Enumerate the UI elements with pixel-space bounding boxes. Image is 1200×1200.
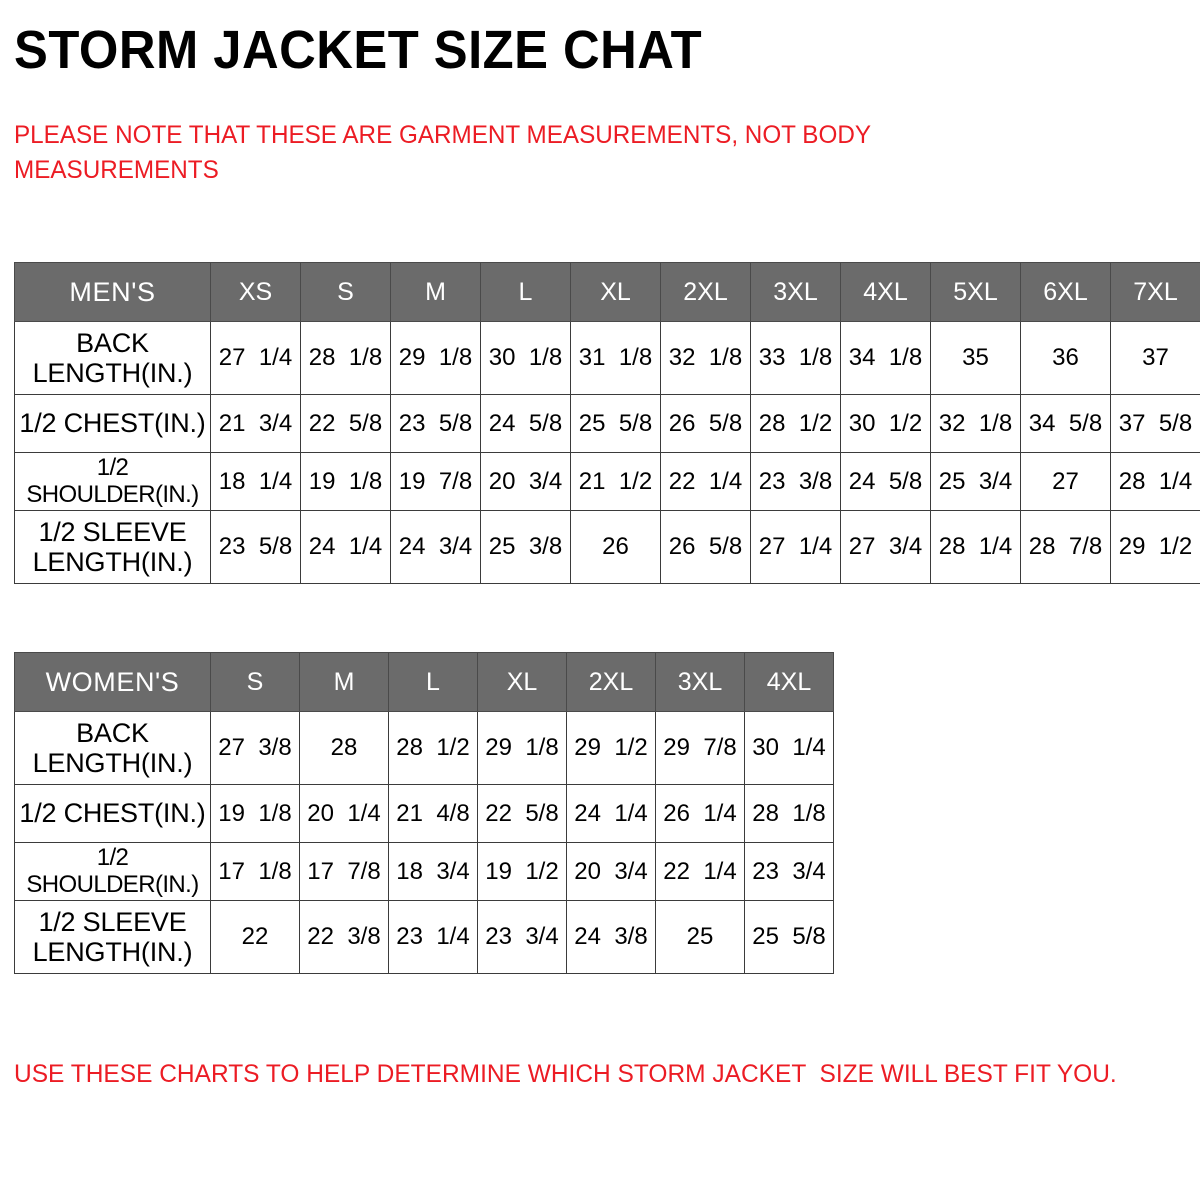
measurement-cell: 21 3/4 bbox=[211, 395, 301, 453]
measurement-value: 29 1/2 bbox=[1119, 533, 1192, 561]
mens-column-header-l: L bbox=[481, 263, 571, 322]
measurement-value: 24 1/4 bbox=[309, 533, 382, 561]
measurement-cell: 24 5/8 bbox=[841, 453, 931, 511]
mens-row-label: 1/2 CHEST(IN.) bbox=[15, 395, 211, 453]
page-title: STORM JACKET SIZE CHAT bbox=[14, 22, 702, 79]
measurement-cell: 21 4/8 bbox=[389, 785, 478, 843]
measurement-cell: 30 1/4 bbox=[745, 712, 834, 785]
measurement-value: 31 1/8 bbox=[579, 344, 652, 372]
measurement-value: 21 1/2 bbox=[579, 468, 652, 496]
measurement-value: 27 bbox=[1052, 468, 1079, 496]
measurement-cell: 21 1/2 bbox=[571, 453, 661, 511]
measurement-value: 26 5/8 bbox=[669, 410, 742, 438]
table-row: 1/2 CHEST(IN.)19 1/820 1/421 4/822 5/824… bbox=[15, 785, 834, 843]
measurement-cell: 33 1/8 bbox=[751, 322, 841, 395]
measurement-cell: 27 3/8 bbox=[211, 712, 300, 785]
measurement-value: 29 1/2 bbox=[574, 734, 647, 762]
measurement-cell: 19 1/2 bbox=[478, 843, 567, 901]
measurement-cell: 28 1/4 bbox=[931, 511, 1021, 584]
measurement-value: 23 3/4 bbox=[485, 923, 558, 951]
table-row: 1/2 SHOULDER(IN.)17 1/817 7/818 3/419 1/… bbox=[15, 843, 834, 901]
womens-row-label: 1/2 SHOULDER(IN.) bbox=[15, 843, 211, 901]
measurement-cell: 19 1/8 bbox=[301, 453, 391, 511]
measurement-value: 27 1/4 bbox=[759, 533, 832, 561]
measurement-value: 24 5/8 bbox=[489, 410, 562, 438]
mens-row-label: 1/2 SHOULDER(IN.) bbox=[15, 453, 211, 511]
measurement-cell: 29 1/2 bbox=[1111, 511, 1200, 584]
row-label-line-2: LENGTH(IN.) bbox=[17, 358, 208, 388]
womens-table-header: WOMEN'SSMLXL2XL3XL4XL bbox=[15, 653, 834, 712]
measurement-value: 24 3/4 bbox=[399, 533, 472, 561]
measurement-cell: 25 5/8 bbox=[745, 901, 834, 974]
mens-column-header-6xl: 6XL bbox=[1021, 263, 1111, 322]
measurement-cell: 29 1/2 bbox=[567, 712, 656, 785]
measurement-cell: 28 1/4 bbox=[1111, 453, 1200, 511]
measurement-value: 30 1/2 bbox=[849, 410, 922, 438]
measurement-cell: 18 3/4 bbox=[389, 843, 478, 901]
measurement-value: 36 bbox=[1052, 344, 1079, 372]
measurement-value: 23 5/8 bbox=[399, 410, 472, 438]
measurement-value: 26 1/4 bbox=[663, 800, 736, 828]
row-label-line-1: 1/2 SLEEVE bbox=[17, 907, 208, 937]
measurement-cell: 34 5/8 bbox=[1021, 395, 1111, 453]
measurement-value: 22 bbox=[242, 923, 269, 951]
usage-instruction-note: USE THESE CHARTS TO HELP DETERMINE WHICH… bbox=[14, 1058, 1112, 1091]
measurement-value: 25 5/8 bbox=[579, 410, 652, 438]
mens-column-header-xs: XS bbox=[211, 263, 301, 322]
mens-row-label: 1/2 SLEEVELENGTH(IN.) bbox=[15, 511, 211, 584]
mens-column-header-3xl: 3XL bbox=[751, 263, 841, 322]
mens-column-header-m: M bbox=[391, 263, 481, 322]
measurement-cell: 23 3/4 bbox=[478, 901, 567, 974]
mens-column-header-s: S bbox=[301, 263, 391, 322]
measurement-value: 18 1/4 bbox=[219, 468, 292, 496]
measurement-value: 26 5/8 bbox=[669, 533, 742, 561]
mens-table-body: BACKLENGTH(IN.)27 1/428 1/829 1/830 1/83… bbox=[15, 322, 1200, 584]
measurement-value: 23 3/8 bbox=[759, 468, 832, 496]
measurement-cell: 28 1/2 bbox=[389, 712, 478, 785]
measurement-cell: 22 5/8 bbox=[301, 395, 391, 453]
size-chart-page: STORM JACKET SIZE CHAT PLEASE NOTE THAT … bbox=[0, 0, 1200, 1200]
measurement-cell: 27 1/4 bbox=[751, 511, 841, 584]
womens-row-label: BACKLENGTH(IN.) bbox=[15, 712, 211, 785]
row-label-line-2: LENGTH(IN.) bbox=[17, 937, 208, 967]
measurement-value: 29 7/8 bbox=[663, 734, 736, 762]
measurement-cell: 28 7/8 bbox=[1021, 511, 1111, 584]
measurement-value: 27 1/4 bbox=[219, 344, 292, 372]
table-row: BACKLENGTH(IN.)27 3/82828 1/229 1/829 1/… bbox=[15, 712, 834, 785]
measurement-value: 37 5/8 bbox=[1119, 410, 1192, 438]
measurement-cell: 25 bbox=[656, 901, 745, 974]
table-row: 1/2 CHEST(IN.)21 3/422 5/823 5/824 5/825… bbox=[15, 395, 1200, 453]
measurement-cell: 30 1/2 bbox=[841, 395, 931, 453]
measurement-cell: 24 5/8 bbox=[481, 395, 571, 453]
measurement-value: 24 1/4 bbox=[574, 800, 647, 828]
measurement-value: 28 1/8 bbox=[752, 800, 825, 828]
measurement-value: 32 1/8 bbox=[669, 344, 742, 372]
measurement-value: 19 7/8 bbox=[399, 468, 472, 496]
measurement-value: 17 7/8 bbox=[307, 858, 380, 886]
measurement-cell: 27 1/4 bbox=[211, 322, 301, 395]
womens-size-table: WOMEN'SSMLXL2XL3XL4XL BACKLENGTH(IN.)27 … bbox=[14, 652, 834, 974]
measurement-value: 22 5/8 bbox=[485, 800, 558, 828]
measurement-cell: 26 bbox=[571, 511, 661, 584]
table-header-row: MEN'SXSSMLXL2XL3XL4XL5XL6XL7XL bbox=[15, 263, 1200, 322]
measurement-value: 20 3/4 bbox=[489, 468, 562, 496]
womens-row-label: 1/2 SLEEVELENGTH(IN.) bbox=[15, 901, 211, 974]
mens-size-table: MEN'SXSSMLXL2XL3XL4XL5XL6XL7XL BACKLENGT… bbox=[14, 262, 1200, 584]
measurement-cell: 34 1/8 bbox=[841, 322, 931, 395]
measurement-value: 34 5/8 bbox=[1029, 410, 1102, 438]
measurement-value: 26 bbox=[602, 533, 629, 561]
measurement-cell: 24 3/4 bbox=[391, 511, 481, 584]
measurement-value: 29 1/8 bbox=[399, 344, 472, 372]
measurement-value: 30 1/4 bbox=[752, 734, 825, 762]
measurement-cell: 26 5/8 bbox=[661, 511, 751, 584]
measurement-cell: 23 5/8 bbox=[211, 511, 301, 584]
measurement-cell: 22 5/8 bbox=[478, 785, 567, 843]
measurement-value: 23 3/4 bbox=[752, 858, 825, 886]
row-label-line-2: LENGTH(IN.) bbox=[17, 748, 208, 778]
measurement-value: 27 3/4 bbox=[849, 533, 922, 561]
table-row: 1/2 SHOULDER(IN.)18 1/419 1/819 7/820 3/… bbox=[15, 453, 1200, 511]
mens-row-label: BACKLENGTH(IN.) bbox=[15, 322, 211, 395]
measurement-cell: 32 1/8 bbox=[661, 322, 751, 395]
mens-column-header-2xl: 2XL bbox=[661, 263, 751, 322]
measurement-cell: 35 bbox=[931, 322, 1021, 395]
womens-table-body: BACKLENGTH(IN.)27 3/82828 1/229 1/829 1/… bbox=[15, 712, 834, 974]
measurement-cell: 27 bbox=[1021, 453, 1111, 511]
measurement-cell: 31 1/8 bbox=[571, 322, 661, 395]
measurement-cell: 37 5/8 bbox=[1111, 395, 1200, 453]
measurement-cell: 28 1/8 bbox=[745, 785, 834, 843]
measurement-value: 21 4/8 bbox=[396, 800, 469, 828]
measurement-cell: 17 7/8 bbox=[300, 843, 389, 901]
measurement-value: 25 3/4 bbox=[939, 468, 1012, 496]
measurement-cell: 28 bbox=[300, 712, 389, 785]
measurement-value: 28 7/8 bbox=[1029, 533, 1102, 561]
measurement-value: 22 3/8 bbox=[307, 923, 380, 951]
measurement-cell: 19 7/8 bbox=[391, 453, 481, 511]
measurement-cell: 26 5/8 bbox=[661, 395, 751, 453]
measurement-value: 18 3/4 bbox=[396, 858, 469, 886]
measurement-cell: 25 5/8 bbox=[571, 395, 661, 453]
measurement-cell: 23 1/4 bbox=[389, 901, 478, 974]
row-label-line-1: BACK bbox=[17, 328, 208, 358]
measurement-cell: 30 1/8 bbox=[481, 322, 571, 395]
measurement-value: 25 5/8 bbox=[752, 923, 825, 951]
womens-column-header-4xl: 4XL bbox=[745, 653, 834, 712]
measurement-cell: 22 1/4 bbox=[661, 453, 751, 511]
measurement-value: 30 1/8 bbox=[489, 344, 562, 372]
measurement-value: 23 1/4 bbox=[396, 923, 469, 951]
measurement-cell: 24 3/8 bbox=[567, 901, 656, 974]
measurement-cell: 22 3/8 bbox=[300, 901, 389, 974]
measurement-cell: 24 1/4 bbox=[567, 785, 656, 843]
measurement-value: 17 1/8 bbox=[218, 858, 291, 886]
measurement-cell: 23 3/8 bbox=[751, 453, 841, 511]
womens-column-header-3xl: 3XL bbox=[656, 653, 745, 712]
measurement-cell: 22 bbox=[211, 901, 300, 974]
measurement-cell: 29 1/8 bbox=[391, 322, 481, 395]
womens-column-header-2xl: 2XL bbox=[567, 653, 656, 712]
measurement-value: 28 1/8 bbox=[309, 344, 382, 372]
row-label-line-1: BACK bbox=[17, 718, 208, 748]
measurement-value: 20 3/4 bbox=[574, 858, 647, 886]
measurement-cell: 29 7/8 bbox=[656, 712, 745, 785]
measurement-value: 28 1/2 bbox=[396, 734, 469, 762]
measurement-value: 24 5/8 bbox=[849, 468, 922, 496]
table-row: 1/2 SLEEVELENGTH(IN.)2222 3/823 1/423 3/… bbox=[15, 901, 834, 974]
garment-measurement-note: PLEASE NOTE THAT THESE ARE GARMENT MEASU… bbox=[14, 118, 945, 187]
table-row: 1/2 SLEEVELENGTH(IN.)23 5/824 1/424 3/42… bbox=[15, 511, 1200, 584]
measurement-value: 27 3/8 bbox=[218, 734, 291, 762]
womens-column-header-l: L bbox=[389, 653, 478, 712]
measurement-value: 33 1/8 bbox=[759, 344, 832, 372]
measurement-cell: 28 1/8 bbox=[301, 322, 391, 395]
measurement-cell: 32 1/8 bbox=[931, 395, 1021, 453]
measurement-value: 19 1/8 bbox=[309, 468, 382, 496]
measurement-cell: 19 1/8 bbox=[211, 785, 300, 843]
mens-column-header-4xl: 4XL bbox=[841, 263, 931, 322]
measurement-value: 28 1/4 bbox=[939, 533, 1012, 561]
measurement-cell: 36 bbox=[1021, 322, 1111, 395]
measurement-value: 24 3/8 bbox=[574, 923, 647, 951]
measurement-cell: 25 3/4 bbox=[931, 453, 1021, 511]
measurement-value: 22 5/8 bbox=[309, 410, 382, 438]
womens-column-header-xl: XL bbox=[478, 653, 567, 712]
row-label-line-1: 1/2 SLEEVE bbox=[17, 517, 208, 547]
mens-column-header-xl: XL bbox=[571, 263, 661, 322]
womens-column-header-m: M bbox=[300, 653, 389, 712]
measurement-value: 28 1/2 bbox=[759, 410, 832, 438]
measurement-cell: 20 3/4 bbox=[481, 453, 571, 511]
measurement-value: 22 1/4 bbox=[669, 468, 742, 496]
measurement-cell: 18 1/4 bbox=[211, 453, 301, 511]
measurement-cell: 37 bbox=[1111, 322, 1200, 395]
womens-row-label: 1/2 CHEST(IN.) bbox=[15, 785, 211, 843]
womens-corner-label: WOMEN'S bbox=[15, 653, 211, 712]
measurement-cell: 24 1/4 bbox=[301, 511, 391, 584]
measurement-value: 34 1/8 bbox=[849, 344, 922, 372]
table-row: BACKLENGTH(IN.)27 1/428 1/829 1/830 1/83… bbox=[15, 322, 1200, 395]
measurement-cell: 25 3/8 bbox=[481, 511, 571, 584]
mens-corner-label: MEN'S bbox=[15, 263, 211, 322]
measurement-cell: 23 5/8 bbox=[391, 395, 481, 453]
measurement-value: 19 1/2 bbox=[485, 858, 558, 886]
measurement-value: 35 bbox=[962, 344, 989, 372]
measurement-value: 23 5/8 bbox=[219, 533, 292, 561]
measurement-value: 20 1/4 bbox=[307, 800, 380, 828]
mens-table-header: MEN'SXSSMLXL2XL3XL4XL5XL6XL7XL bbox=[15, 263, 1200, 322]
measurement-cell: 28 1/2 bbox=[751, 395, 841, 453]
measurement-value: 32 1/8 bbox=[939, 410, 1012, 438]
measurement-value: 28 1/4 bbox=[1119, 468, 1192, 496]
mens-column-header-7xl: 7XL bbox=[1111, 263, 1200, 322]
measurement-cell: 17 1/8 bbox=[211, 843, 300, 901]
row-label-line-2: LENGTH(IN.) bbox=[17, 547, 208, 577]
measurement-cell: 29 1/8 bbox=[478, 712, 567, 785]
measurement-value: 19 1/8 bbox=[218, 800, 291, 828]
measurement-cell: 20 1/4 bbox=[300, 785, 389, 843]
measurement-value: 22 1/4 bbox=[663, 858, 736, 886]
measurement-value: 21 3/4 bbox=[219, 410, 292, 438]
measurement-cell: 26 1/4 bbox=[656, 785, 745, 843]
measurement-cell: 27 3/4 bbox=[841, 511, 931, 584]
measurement-value: 29 1/8 bbox=[485, 734, 558, 762]
measurement-value: 28 bbox=[331, 734, 358, 762]
womens-column-header-s: S bbox=[211, 653, 300, 712]
measurement-value: 37 bbox=[1142, 344, 1169, 372]
mens-column-header-5xl: 5XL bbox=[931, 263, 1021, 322]
measurement-value: 25 3/8 bbox=[489, 533, 562, 561]
table-header-row: WOMEN'SSMLXL2XL3XL4XL bbox=[15, 653, 834, 712]
measurement-cell: 22 1/4 bbox=[656, 843, 745, 901]
measurement-value: 25 bbox=[687, 923, 714, 951]
measurement-cell: 20 3/4 bbox=[567, 843, 656, 901]
measurement-cell: 23 3/4 bbox=[745, 843, 834, 901]
